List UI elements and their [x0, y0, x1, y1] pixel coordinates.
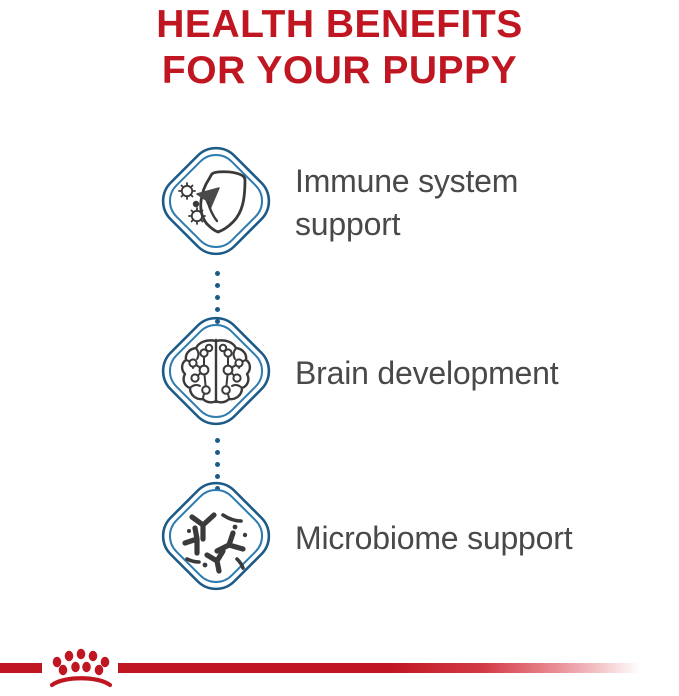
benefit-row: Brain development — [0, 308, 679, 438]
benefit-row: Immune system support — [0, 138, 679, 268]
benefit-icon-slot — [0, 138, 290, 268]
page-title-line-2: FOR YOUR PUPPY — [0, 48, 679, 94]
benefit-label: Microbiome support — [295, 517, 679, 560]
page-title-line-1: HEALTH BENEFITS — [0, 2, 679, 48]
benefit-row: Microbiome support — [0, 473, 679, 603]
connector-dot — [215, 295, 220, 300]
shield-germs-icon — [153, 138, 279, 264]
benefit-label: Brain development — [295, 352, 679, 395]
connector-dot — [215, 462, 220, 467]
benefit-label: Immune system support — [295, 160, 679, 246]
footer — [0, 636, 679, 696]
microbiome-bacteria-icon — [153, 473, 279, 599]
connector-dot — [215, 271, 220, 276]
benefit-icon-slot — [0, 473, 290, 603]
connector-dot — [215, 450, 220, 455]
footer-bar-right-segment — [118, 663, 640, 673]
connector-dot — [215, 438, 220, 443]
footer-bar-left-segment — [0, 663, 42, 673]
connector-dot — [215, 283, 220, 288]
benefit-icon-slot — [0, 308, 290, 438]
royal-canin-crown-icon — [44, 648, 118, 688]
brain-network-icon — [153, 308, 279, 434]
page-title: HEALTH BENEFITS FOR YOUR PUPPY — [0, 2, 679, 94]
